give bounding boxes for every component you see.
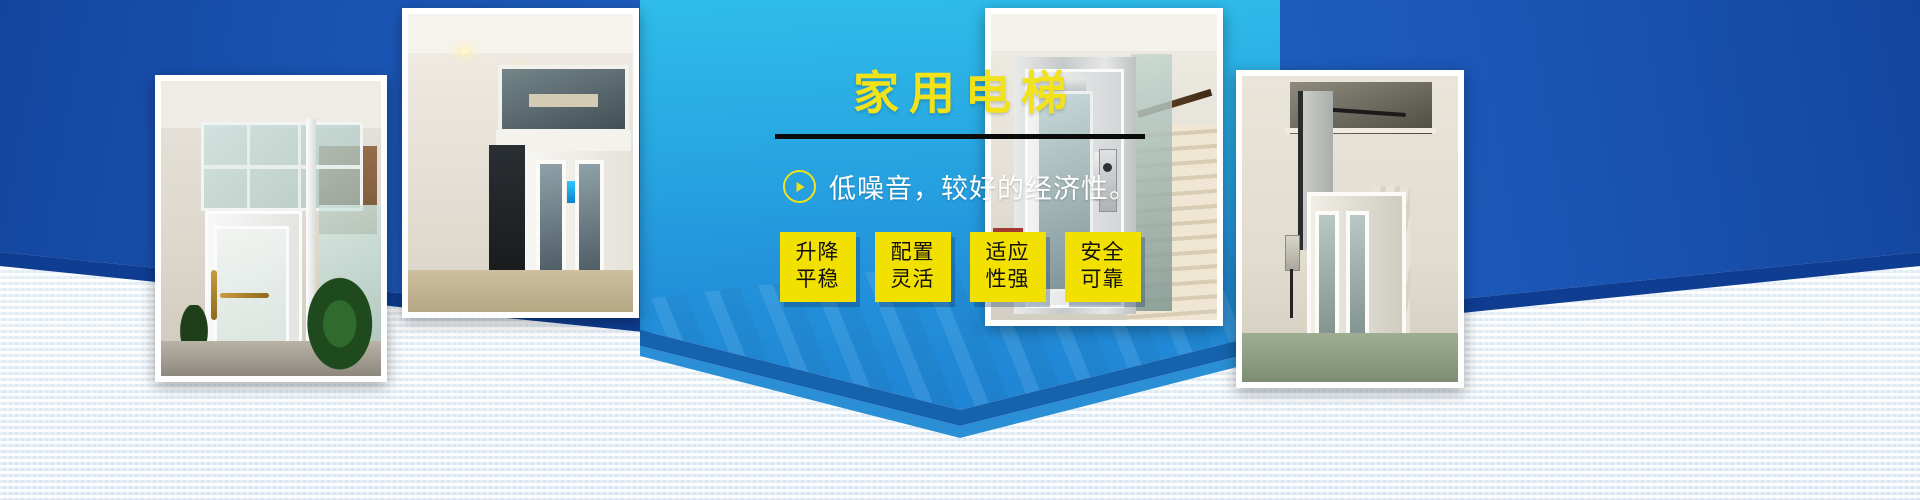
- feature-tag-line2: 平稳: [796, 267, 840, 294]
- feature-tag-line1: 安全: [1081, 240, 1125, 267]
- subtitle-text: 低噪音，较好的经济性。: [829, 167, 1137, 206]
- home-elevator-banner: 家用电梯 低噪音，较好的经济性。 升降 平稳 配置 灵活 适应 性强: [0, 0, 1920, 500]
- page-title: 家用电梯: [648, 70, 1272, 116]
- feature-tag-line2: 灵活: [891, 267, 935, 294]
- feature-tag: 配置 灵活: [875, 232, 951, 302]
- feature-tag: 安全 可靠: [1065, 232, 1141, 302]
- feature-tag-line2: 可靠: [1081, 267, 1125, 294]
- feature-tag-line1: 配置: [891, 240, 935, 267]
- feature-tag: 适应 性强: [970, 232, 1046, 302]
- title-divider: [775, 134, 1145, 139]
- elevator-photo-2: [402, 8, 639, 318]
- circled-play-arrow-icon: [783, 170, 816, 203]
- photo-4-scene: [1242, 76, 1458, 382]
- feature-tag-list: 升降 平稳 配置 灵活 适应 性强 安全 可靠: [648, 232, 1272, 302]
- feature-tag-line1: 升降: [796, 240, 840, 267]
- feature-tag-line1: 适应: [986, 240, 1030, 267]
- subtitle-row: 低噪音，较好的经济性。: [648, 167, 1272, 206]
- feature-tag: 升降 平稳: [780, 232, 856, 302]
- elevator-photo-1: [155, 75, 387, 382]
- photo-2-scene: [408, 14, 633, 312]
- banner-text-block: 家用电梯 低噪音，较好的经济性。 升降 平稳 配置 灵活 适应 性强: [648, 70, 1272, 370]
- feature-tag-line2: 性强: [986, 267, 1030, 294]
- photo-1-scene: [161, 81, 381, 376]
